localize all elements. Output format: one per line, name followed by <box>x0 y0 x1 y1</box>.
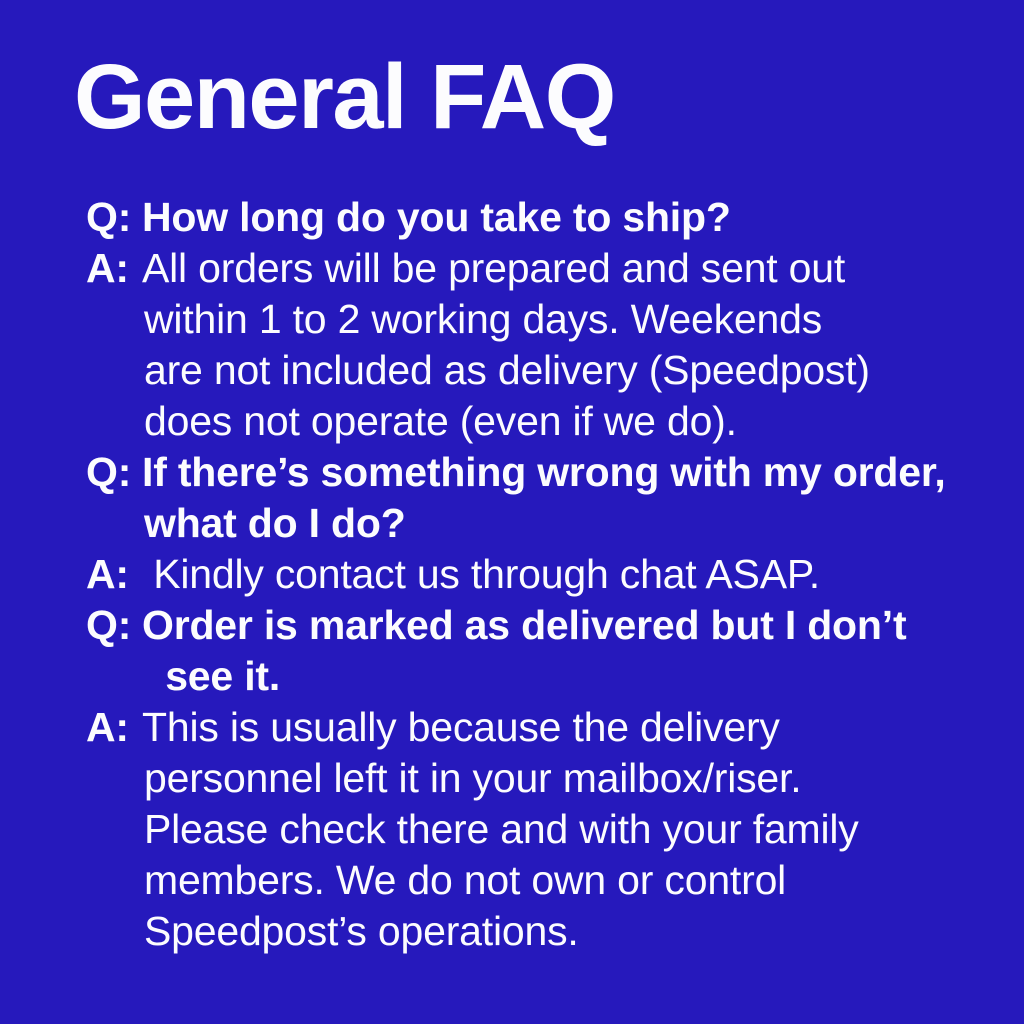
faq-answer-line: does not operate (even if we do). <box>86 396 1016 447</box>
question-text: How long do you take to ship? <box>142 194 731 240</box>
faq-answer-line: A: Kindly contact us through chat ASAP. <box>86 549 1016 600</box>
faq-answer-line: A:All orders will be prepared and sent o… <box>86 243 1016 294</box>
answer-label: A: <box>86 549 142 600</box>
answer-label: A: <box>86 243 142 294</box>
faq-card: General FAQ Q:How long do you take to sh… <box>0 0 1024 1024</box>
faq-question-line: what do I do? <box>86 498 1016 549</box>
faq-question-line: Q:If there’s something wrong with my ord… <box>86 447 1016 498</box>
question-label: Q: <box>86 600 142 651</box>
faq-question-line: see it. <box>86 651 1016 702</box>
question-label: Q: <box>86 447 142 498</box>
question-label: Q: <box>86 192 142 243</box>
page-title: General FAQ <box>74 44 615 150</box>
faq-answer-line: members. We do not own or control <box>86 855 1016 906</box>
faq-question-line: Q:How long do you take to ship? <box>86 192 1016 243</box>
faq-answer-line: within 1 to 2 working days. Weekends <box>86 294 1016 345</box>
question-text: If there’s something wrong with my order… <box>142 449 946 495</box>
faq-answer-line: personnel left it in your mailbox/riser. <box>86 753 1016 804</box>
faq-answer-line: A:This is usually because the delivery <box>86 702 1016 753</box>
question-text: Order is marked as delivered but I don’t <box>142 602 906 648</box>
faq-entry: Q:How long do you take to ship? A:All or… <box>86 192 1016 447</box>
answer-text: This is usually because the delivery <box>142 704 780 750</box>
faq-question-line: Q:Order is marked as delivered but I don… <box>86 600 1016 651</box>
answer-label: A: <box>86 702 142 753</box>
answer-text: All orders will be prepared and sent out <box>142 245 845 291</box>
faq-answer-line: Speedpost’s operations. <box>86 906 1016 957</box>
faq-entry: Q:Order is marked as delivered but I don… <box>86 600 1016 957</box>
faq-entry: Q:If there’s something wrong with my ord… <box>86 447 1016 600</box>
faq-list: Q:How long do you take to ship? A:All or… <box>86 192 1016 957</box>
faq-answer-line: are not included as delivery (Speedpost) <box>86 345 1016 396</box>
faq-answer-line: Please check there and with your family <box>86 804 1016 855</box>
answer-text: Kindly contact us through chat ASAP. <box>142 551 820 597</box>
